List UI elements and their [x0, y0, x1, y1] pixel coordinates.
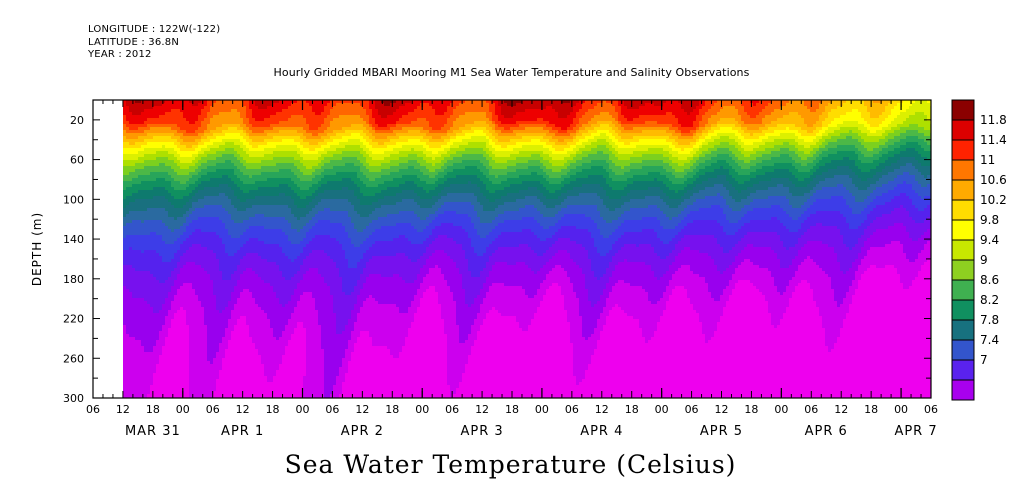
- colorbar-tick-label: 11.4: [980, 133, 1007, 147]
- colorbar: 11.811.41110.610.29.89.498.68.27.87.47: [952, 100, 1007, 400]
- colorbar-tick-label: 11.8: [980, 113, 1007, 127]
- colorbar-tick-label: 9: [980, 253, 988, 267]
- colorbar-tick-label: 7.8: [980, 313, 999, 327]
- plot-caption: Sea Water Temperature (Celsius): [0, 450, 1009, 479]
- temperature-field: [93, 100, 931, 400]
- contour-plot: 2060100140180220260300DEPTH (m)061218000…: [0, 0, 1009, 504]
- colorbar-tick-label: 7.4: [980, 333, 999, 347]
- colorbar-tick-label: 8.6: [980, 273, 999, 287]
- colorbar-tick-label: 10.6: [980, 173, 1007, 187]
- colorbar-tick-label: 9.8: [980, 213, 999, 227]
- y-axis-label: DEPTH (m): [30, 212, 44, 286]
- colorbar-tick-label: 7: [980, 353, 988, 367]
- colorbar-tick-label: 9.4: [980, 233, 999, 247]
- colorbar-tick-label: 11: [980, 153, 995, 167]
- colorbar-tick-label: 10.2: [980, 193, 1007, 207]
- plot-svg: 2060100140180220260300DEPTH (m)061218000…: [0, 0, 1009, 504]
- colorbar-tick-label: 8.2: [980, 293, 999, 307]
